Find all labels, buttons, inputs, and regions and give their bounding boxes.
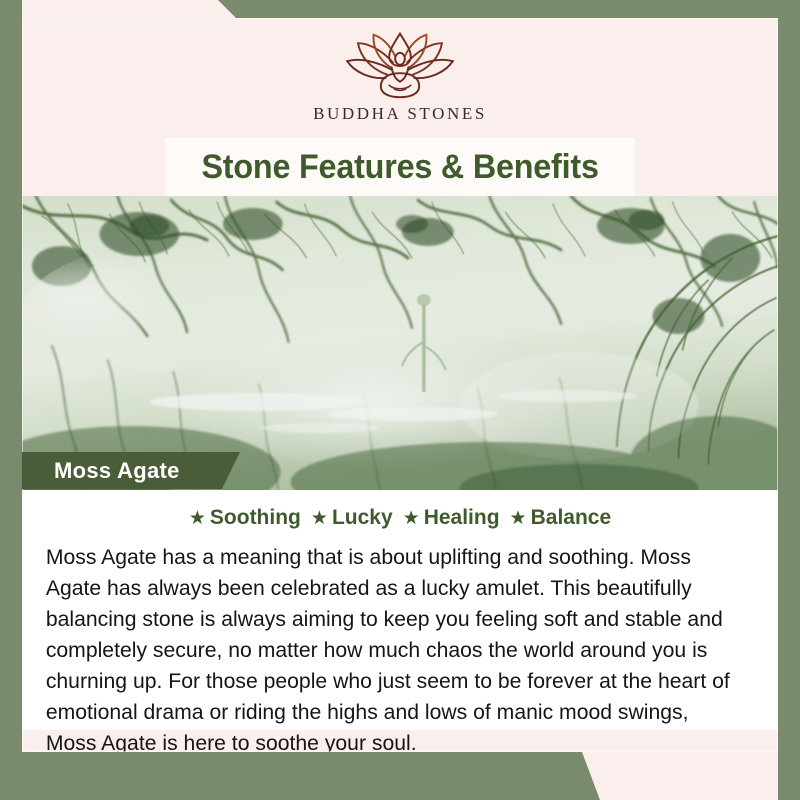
feature-item: ★ Lucky — [311, 506, 393, 530]
feature-item: ★ Balance — [510, 506, 612, 530]
frame-band-bottom — [0, 752, 800, 800]
content-panel: ★ Soothing ★ Lucky ★ Healing ★ Balance M… — [22, 490, 778, 730]
page-title: Stone Features & Benefits — [201, 148, 598, 187]
brand-wordmark: BUDDHA STONES — [313, 104, 487, 124]
frame-band-top — [218, 0, 800, 18]
stone-name-label: Moss Agate — [54, 458, 180, 484]
page-title-banner: Stone Features & Benefits — [165, 138, 635, 196]
feature-item: ★ Soothing — [189, 506, 301, 530]
stone-name-tag: Moss Agate — [22, 452, 240, 489]
star-icon: ★ — [189, 509, 206, 528]
features-row: ★ Soothing ★ Lucky ★ Healing ★ Balance — [34, 502, 766, 534]
feature-label: Healing — [424, 506, 500, 530]
feature-label: Balance — [531, 506, 612, 530]
star-icon: ★ — [311, 509, 328, 528]
moss-agate-stone-photo — [22, 196, 778, 490]
feature-label: Soothing — [210, 506, 301, 530]
star-icon: ★ — [403, 509, 420, 528]
star-icon: ★ — [510, 509, 527, 528]
stone-description: Moss Agate has a meaning that is about u… — [34, 542, 755, 759]
feature-item: ★ Healing — [403, 506, 500, 530]
feature-label: Lucky — [332, 506, 393, 530]
brand-header: BUDDHA STONES — [22, 18, 778, 136]
lotus-meditation-icon — [334, 30, 466, 102]
frame-rail-right — [778, 0, 800, 800]
product-infographic: BUDDHA STONES — [0, 0, 800, 800]
frame-rail-left — [0, 0, 22, 800]
